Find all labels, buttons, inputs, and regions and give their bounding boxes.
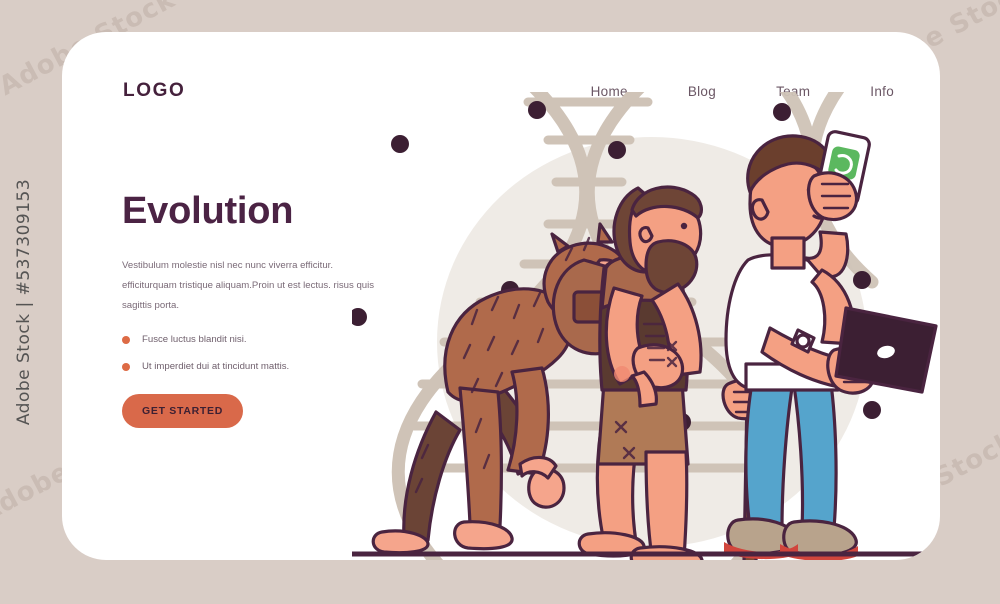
get-started-button[interactable]: GET STARTED — [122, 394, 243, 428]
figure-modern-man — [724, 130, 936, 560]
modern-jeans — [746, 372, 792, 528]
page-title: Evolution — [122, 192, 382, 230]
poster-canvas: Adobe Stock Adobe Stock Adobe Stock Adob… — [0, 0, 1000, 604]
ape-foot-front — [455, 522, 512, 549]
ape-foot-back — [373, 531, 428, 553]
bullet-dot-icon — [122, 336, 130, 344]
logo[interactable]: LOGO — [123, 80, 185, 102]
hero-paragraph: Vestibulum molestie nisl nec nunc viverr… — [122, 256, 382, 316]
list-item-label: Ut imperdiet dui at tincidunt mattis. — [142, 361, 289, 372]
caveman-front-leg — [646, 452, 687, 558]
landing-page-card: Adobe Stock Adobe Stock Adobe Stock Adob… — [62, 32, 940, 560]
caveman-blush — [614, 366, 630, 382]
caveman-beard — [646, 241, 697, 292]
watermark-vertical: Adobe Stock | #537309153 — [4, 0, 44, 604]
modern-neck — [772, 238, 804, 268]
bullet-dot-icon — [122, 363, 130, 371]
watermark-vertical-text: Adobe Stock | #537309153 — [14, 179, 34, 425]
human-evolution-illustration — [352, 92, 940, 560]
list-item: Fusce luctus blandit nisi. — [122, 334, 382, 345]
list-item-label: Fusce luctus blandit nisi. — [142, 334, 247, 345]
ape-near-leg — [460, 388, 501, 526]
hero-section: Evolution Vestibulum molestie nisl nec n… — [122, 192, 382, 428]
feature-list: Fusce luctus blandit nisi. Ut imperdiet … — [122, 334, 382, 372]
caveman-eye — [681, 223, 687, 229]
list-item: Ut imperdiet dui at tincidunt mattis. — [122, 361, 382, 372]
caveman-ear — [640, 228, 652, 242]
